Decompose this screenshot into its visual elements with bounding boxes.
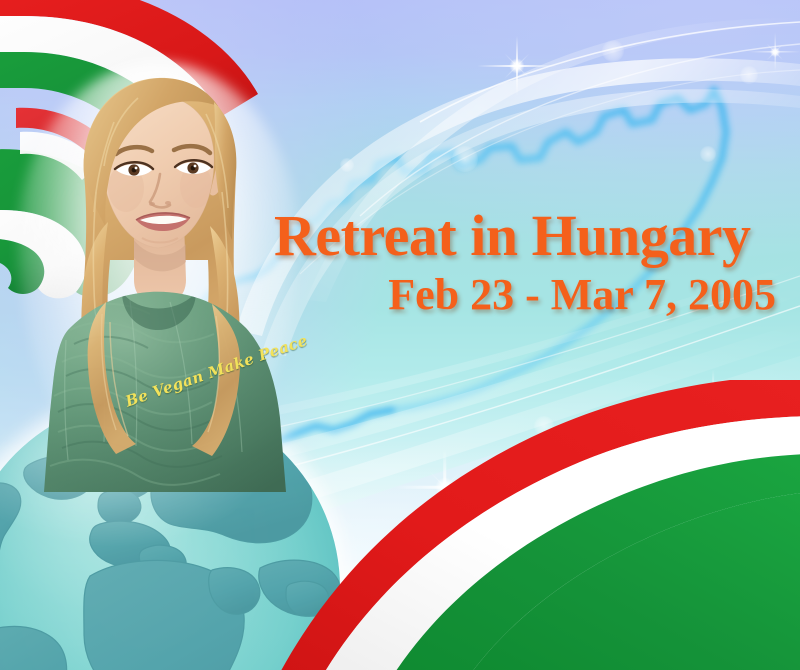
- retreat-poster: Be Vegan Make Peace Retreat in Hungary F…: [0, 0, 800, 670]
- portrait-woman-illustration: [10, 62, 300, 492]
- event-dates: Feb 23 - Mar 7, 2005: [274, 273, 784, 317]
- portrait-woman: Be Vegan Make Peace: [10, 62, 300, 492]
- headline-block: Retreat in Hungary Feb 23 - Mar 7, 2005: [274, 207, 784, 317]
- page-title: Retreat in Hungary: [274, 207, 784, 265]
